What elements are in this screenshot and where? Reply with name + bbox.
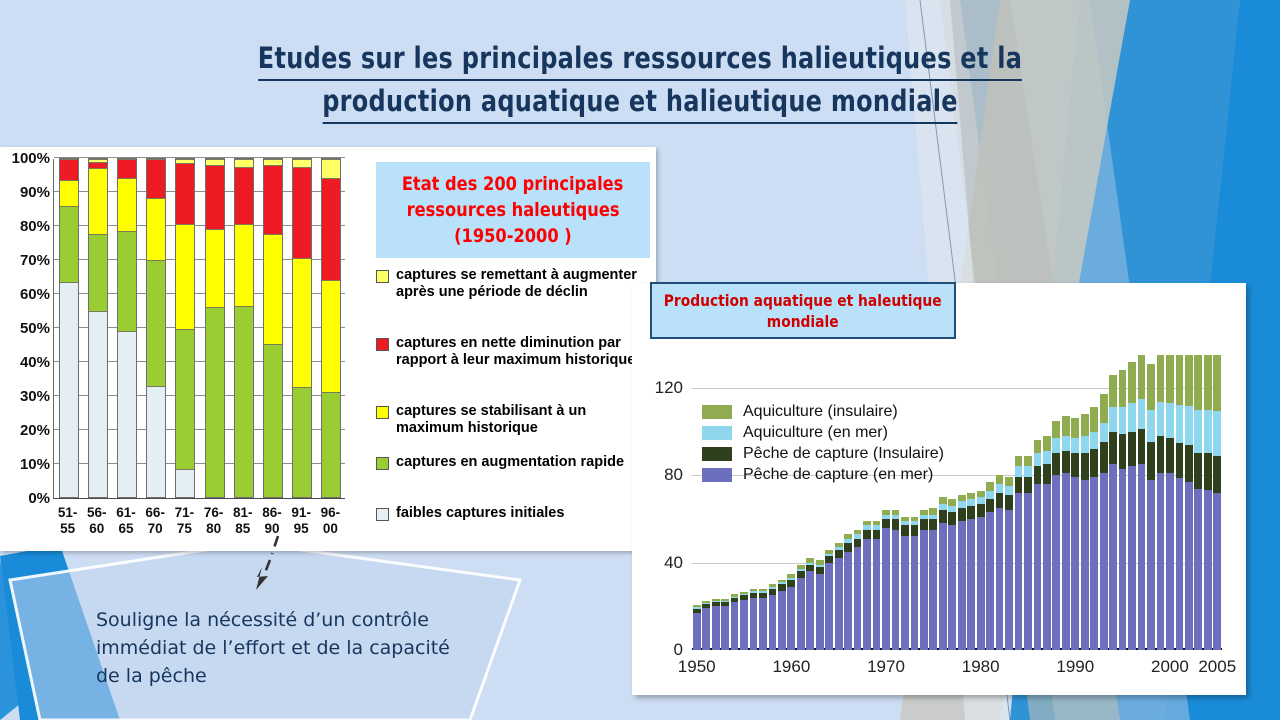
bar-1983 [1005,355,1013,650]
segment-captures en ne [206,165,224,229]
segment-Aquiculture [1147,364,1155,410]
segment-Aquiculture [1071,418,1079,438]
segment-Pêche de cap [929,519,937,530]
right-chart-legend: Aquiculture (insulaire)Aquiculture (en m… [702,401,944,485]
legend-label: captures se stabilisant à un maximum his… [396,403,652,437]
segment-Pêche de cap [986,512,994,650]
segment-Pêche de cap [721,606,729,650]
segment-Pêche de cap [693,613,701,650]
segment-Pêche de cap [920,519,928,530]
bar-2005 [1213,355,1221,650]
x-label-56-60: 56-60 [82,505,112,537]
segment-Pêche de cap [1185,482,1193,650]
segment-Aquiculture [1194,410,1202,453]
caption-line-1: Etat des 200 principales [402,171,624,197]
segment-Pêche de cap [892,530,900,650]
segment-captures en au [118,231,136,331]
bar-1979 [967,355,975,650]
legend-swatch-icon [702,405,732,419]
bar-1991 [1081,355,1089,650]
bar-56-60 [88,158,108,498]
bar-1985 [1024,355,1032,650]
left-legend-area: Etat des 200 principales ressources hale… [372,147,656,551]
bar-1995 [1119,355,1127,650]
segment-Aquiculture [1213,355,1221,411]
bar-1974 [920,355,928,650]
bar-71-75 [175,158,195,498]
segment-faibles captur [147,386,165,497]
bar-1998 [1147,355,1155,650]
segment-captures se st [293,258,311,388]
segment-Pêche de cap [977,504,985,517]
bar-2001 [1176,355,1184,650]
segment-Pêche de cap [967,506,975,519]
segment-Pêche de cap [1138,429,1146,464]
segment-Pêche de cap [882,528,890,650]
bar-1988 [1052,355,1060,650]
segment-Pêche de cap [1157,436,1165,472]
segment-Aquiculture [1090,432,1098,449]
segment-Pêche de cap [920,530,928,650]
segment-Pêche de cap [1043,464,1051,484]
segment-faibles captur [89,311,107,497]
y-tick-100%: 100% [4,150,50,167]
segment-Aquiculture [1176,355,1184,405]
segment-Pêche de cap [1213,456,1221,493]
segment-Pêche de cap [901,525,909,536]
segment-Pêche de cap [844,552,852,650]
segment-captures en au [147,260,165,386]
segment-captures en ne [60,159,78,180]
bar-1980 [977,355,985,650]
segment-Aquiculture [1024,466,1032,477]
segment-captures en ne [293,167,311,258]
segment-captures en au [176,329,194,470]
segment-Pêche de cap [977,517,985,650]
segment-captures en au [264,344,282,497]
y-tick-120: 120 [655,378,683,398]
segment-Aquiculture [1109,375,1117,408]
segment-Aquiculture [1138,355,1146,399]
bar-1976 [939,355,947,650]
segment-Pêche de cap [1015,493,1023,650]
segment-Pêche de cap [1005,510,1013,650]
segment-Aquiculture [986,482,994,491]
segment-Pêche de cap [911,536,919,650]
segment-Pêche de cap [778,591,786,650]
legend-item-4: faibles captures initiales [376,505,652,522]
segment-Pêche de cap [854,547,862,650]
segment-Pêche de cap [1109,464,1117,650]
y-tick-80%: 80% [4,218,50,235]
segment-Pêche de cap [787,587,795,650]
bar-1958 [769,355,777,650]
segment-Aquiculture [1034,440,1042,453]
x-tick-2000: 2000 [1151,657,1189,677]
x-tick-1960: 1960 [772,657,810,677]
segment-Aquiculture [1147,410,1155,443]
bar-1981 [986,355,994,650]
legend-label: Pêche de capture (Insulaire) [743,445,944,463]
segment-captures se re [322,159,340,178]
segment-captures se st [89,168,107,234]
segment-Pêche de cap [1176,478,1184,650]
bar-86-90 [263,158,283,498]
segment-Pêche de cap [873,530,881,539]
segment-captures en au [206,307,224,497]
x-label-66-70: 66-70 [140,505,170,537]
y-tick-20%: 20% [4,422,50,439]
bar-1999 [1157,355,1165,650]
segment-Pêche de cap [986,499,994,512]
segment-Pêche de cap [825,563,833,650]
segment-captures se re [293,159,311,167]
segment-Pêche de cap [863,530,871,539]
segment-Pêche de cap [863,539,871,650]
legend-item-2: captures se stabilisant à un maximum his… [376,403,652,437]
segment-Pêche de cap [892,519,900,530]
segment-Pêche de cap [958,508,966,521]
segment-captures se st [118,178,136,231]
segment-Pêche de cap [1176,443,1184,479]
segment-Pêche de cap [712,606,720,650]
segment-Aquiculture [1185,355,1193,406]
x-label-71-75: 71-75 [169,505,199,537]
x-tick-2005: 2005 [1198,657,1236,677]
bar-1968 [863,355,871,650]
segment-Pêche de cap [929,530,937,650]
segment-Aquiculture [1194,355,1202,410]
legend-label: captures en augmentation rapide [396,454,624,471]
segment-Pêche de cap [806,571,814,650]
segment-Aquiculture [1005,486,1013,495]
legend-swatch-icon [376,270,389,283]
x-label-51-55: 51-55 [53,505,83,537]
segment-Pêche de cap [1062,451,1070,473]
segment-captures en au [89,234,107,312]
segment-Pêche de cap [1090,477,1098,650]
segment-Pêche de cap [939,523,947,650]
segment-Aquiculture [1138,399,1146,430]
segment-Aquiculture [1034,453,1042,466]
legend-item-2: Pêche de capture (Insulaire) [702,443,944,464]
dashed-arrow-icon [248,534,288,596]
segment-Pêche de cap [996,508,1004,650]
segment-Pêche de cap [1147,442,1155,479]
bar-91-95 [292,158,312,498]
segment-Pêche de cap [1204,490,1212,650]
segment-Aquiculture [1157,402,1165,436]
y-tick-0%: 0% [4,490,50,507]
bar-1984 [1015,355,1023,650]
bar-1965 [835,355,843,650]
right-caption-line-2: mondiale [664,311,942,332]
bar-1994 [1109,355,1117,650]
x-label-86-90: 86-90 [257,505,287,537]
segment-Aquiculture [1128,403,1136,431]
segment-Pêche de cap [958,521,966,650]
segment-Pêche de cap [1052,453,1060,475]
segment-Pêche de cap [1081,453,1089,479]
right-chart-caption: Production aquatique et haleutique mondi… [650,282,956,339]
bar-1972 [901,355,909,650]
segment-captures en ne [264,165,282,234]
segment-captures se st [322,280,340,393]
bar-1960 [787,355,795,650]
segment-Pêche de cap [901,536,909,650]
segment-Pêche de cap [882,519,890,528]
bar-2004 [1204,355,1212,650]
bar-1963 [816,355,824,650]
bar-1970 [882,355,890,650]
bar-1955 [740,355,748,650]
bar-1952 [712,355,720,650]
segment-captures se st [176,224,194,328]
segment-captures se re [235,159,253,167]
bar-96-00 [321,158,341,498]
x-tick-1970: 1970 [867,657,905,677]
bar-1961 [797,355,805,650]
x-label-61-65: 61-65 [111,505,141,537]
segment-Aquiculture [1024,456,1032,467]
legend-item-1: Aquiculture (en mer) [702,422,944,443]
y-tick-90%: 90% [4,184,50,201]
segment-Pêche de cap [1166,438,1174,473]
segment-Pêche de cap [1109,432,1117,465]
bar-61-65 [117,158,137,498]
title-line-2: production aquatique et halieutique mond… [322,81,958,124]
legend-swatch-icon [702,447,732,461]
y-tick-40%: 40% [4,354,50,371]
bar-1950 [693,355,701,650]
bar-1969 [873,355,881,650]
y-tick-60%: 60% [4,286,50,303]
bar-1987 [1043,355,1051,650]
segment-faibles captur [118,331,136,497]
bar-1996 [1128,355,1136,650]
bar-1951 [702,355,710,650]
segment-Aquiculture [1081,436,1089,453]
segment-Pêche de cap [1194,453,1202,490]
segment-Pêche de cap [1157,473,1165,650]
x-tick-1980: 1980 [962,657,1000,677]
x-tick-1950: 1950 [678,657,716,677]
segment-Pêche de cap [1005,495,1013,510]
segment-Pêche de cap [835,558,843,650]
segment-Pêche de cap [1062,473,1070,650]
segment-captures en ne [147,159,165,198]
segment-Aquiculture [1015,466,1023,477]
bar-1959 [778,355,786,650]
segment-Aquiculture [1052,438,1060,453]
y-tick-70%: 70% [4,252,50,269]
bar-1992 [1090,355,1098,650]
segment-Pêche de cap [844,543,852,552]
legend-label: captures se remettant à augmenter après … [396,267,652,301]
segment-captures en au [235,306,253,497]
segment-Pêche de cap [1138,464,1146,650]
caption-line-2: ressources haleutiques [407,197,620,223]
bar-1990 [1071,355,1079,650]
x-label-76-80: 76-80 [199,505,229,537]
segment-Pêche de cap [1166,473,1174,650]
segment-Pêche de cap [797,578,805,650]
segment-Pêche de cap [967,519,975,650]
segment-captures en au [60,206,78,282]
segment-Aquiculture [1005,477,1013,486]
right-caption-line-1: Production aquatique et haleutique [664,290,942,311]
segment-captures en ne [235,167,253,225]
segment-Pêche de cap [816,574,824,650]
segment-Aquiculture [1119,407,1127,433]
bar-1962 [806,355,814,650]
segment-Pêche de cap [750,598,758,650]
bar-2003 [1194,355,1202,650]
bar-1977 [948,355,956,650]
legend-label: Pêche de capture (en mer) [743,466,933,484]
segment-Pêche de cap [769,595,777,650]
legend-item-3: captures en augmentation rapide [376,454,652,471]
segment-captures en ne [322,178,340,279]
segment-Pêche de cap [939,510,947,523]
legend-label: Aquiculture (en mer) [743,424,888,442]
segment-faibles captur [60,282,78,497]
segment-Pêche de cap [911,525,919,536]
bar-1964 [825,355,833,650]
page-title: Etudes sur les principales ressources ha… [189,38,1091,124]
bar-1989 [1062,355,1070,650]
legend-swatch-icon [376,406,389,419]
segment-Pêche de cap [1185,445,1193,482]
legend-swatch-icon [376,508,389,521]
segment-Pêche de cap [1015,477,1023,492]
right-chart-panel: Production aquatique et haleutique mondi… [632,283,1246,695]
segment-Pêche de cap [1024,493,1032,650]
segment-Pêche de cap [1100,473,1108,650]
legend-label: Aquiculture (insulaire) [743,403,898,421]
x-tick-1990: 1990 [1056,657,1094,677]
segment-Pêche de cap [1119,469,1127,650]
bar-1978 [958,355,966,650]
segment-Aquiculture [1204,410,1212,453]
segment-Aquiculture [1062,436,1070,451]
segment-Pêche de cap [1052,475,1060,650]
segment-Aquiculture [986,491,994,500]
y-axis-tick-labels: 0%10%20%30%40%50%60%70%80%90%100% [0,147,50,551]
segment-Pêche de cap [1119,434,1127,469]
segment-Pêche de cap [702,608,710,650]
caption-line-3: (1950-2000 ) [454,223,572,249]
segment-Pêche de cap [1071,453,1079,477]
bar-1956 [750,355,758,650]
segment-Aquiculture [1119,370,1127,407]
segment-Pêche de cap [1147,480,1155,650]
segment-captures en ne [118,159,136,178]
segment-Aquiculture [1213,411,1221,456]
segment-Pêche de cap [948,525,956,650]
bar-2000 [1166,355,1174,650]
y-tick-80: 80 [664,465,683,485]
segment-captures se st [235,224,253,305]
segment-Pêche de cap [1034,484,1042,650]
segment-Aquiculture [996,475,1004,484]
segment-Aquiculture [1128,362,1136,404]
segment-captures en ne [176,163,194,224]
segment-Pêche de cap [948,512,956,525]
segment-Aquiculture [1109,407,1117,431]
bar-1973 [911,355,919,650]
segment-Aquiculture [1052,421,1060,438]
segment-Aquiculture [1081,414,1089,436]
segment-Aquiculture [1062,416,1070,436]
segment-Aquiculture [1204,355,1212,410]
x-label-96-00: 96-00 [315,505,345,537]
production-bar-chart-plot-area: 040801201950196019701980199020002005 [692,355,1222,650]
segment-Aquiculture [1071,438,1079,453]
x-label-91-95: 91-95 [286,505,316,537]
y-tick-50%: 50% [4,320,50,337]
segment-Aquiculture [1043,436,1051,451]
bar-1986 [1034,355,1042,650]
segment-Pêche de cap [759,598,767,650]
segment-Aquiculture [1176,405,1184,443]
conclusion-note: Souligne la nécessité d’un contrôle immé… [96,606,476,690]
y-tick-10%: 10% [4,456,50,473]
segment-Pêche de cap [1204,453,1212,490]
legend-swatch-icon [702,468,732,482]
bar-1975 [929,355,937,650]
segment-Pêche de cap [1043,484,1051,650]
legend-swatch-icon [376,338,389,351]
bar-1971 [892,355,900,650]
segment-Aquiculture [1166,403,1174,438]
bar-1966 [844,355,852,650]
bar-1967 [854,355,862,650]
bar-76-80 [205,158,225,498]
bar-1954 [731,355,739,650]
bar-1982 [996,355,1004,650]
legend-label: captures en nette diminution par rapport… [396,335,652,369]
title-line-1: Etudes sur les principales ressources ha… [258,38,1022,81]
segment-captures en au [322,392,340,497]
segment-captures se st [206,229,224,307]
bar-1953 [721,355,729,650]
segment-Pêche de cap [1090,449,1098,477]
segment-Pêche de cap [996,493,1004,508]
bar-81-85 [234,158,254,498]
segment-captures se st [60,180,78,206]
segment-captures se st [147,198,165,259]
segment-Aquiculture [1090,407,1098,431]
segment-faibles captur [176,469,194,497]
legend-item-1: captures en nette diminution par rapport… [376,335,652,369]
segment-Pêche de cap [1100,442,1108,473]
y-tick-30%: 30% [4,388,50,405]
bar-51-55 [59,158,79,498]
legend-swatch-icon [376,457,389,470]
segment-Pêche de cap [1128,432,1136,467]
segment-Pêche de cap [1034,466,1042,483]
segment-Aquiculture [1166,355,1174,403]
segment-Pêche de cap [1128,466,1136,650]
segment-Pêche de cap [1213,493,1221,650]
bar-1997 [1138,355,1146,650]
bar-66-70 [146,158,166,498]
stacked-percent-bar-chart: 0%10%20%30%40%50%60%70%80%90%100% 51-555… [0,147,366,551]
segment-Pêche de cap [1071,477,1079,650]
left-chart-caption: Etat des 200 principales ressources hale… [376,162,650,258]
segment-Pêche de cap [1081,480,1089,650]
